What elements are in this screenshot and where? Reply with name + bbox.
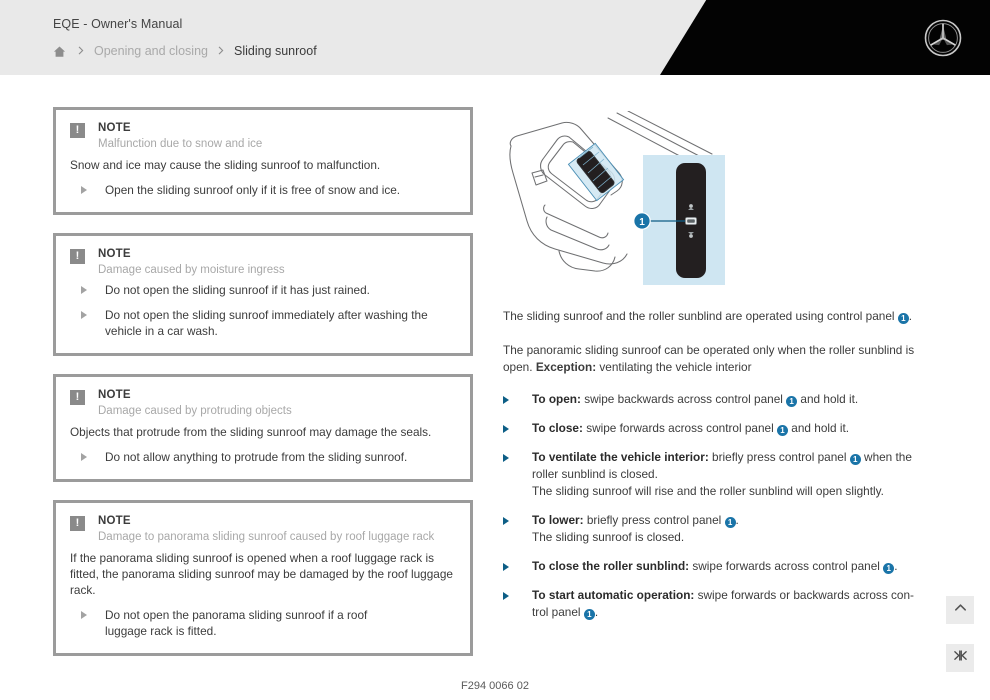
intro-1-text-a: The sliding sunroof and the roller sunbl… (503, 309, 898, 323)
note-bullet-text: Do not open the panorama sliding sunroof… (105, 607, 405, 639)
expand-tool-button[interactable] (946, 644, 974, 672)
note-body: Snow and ice may cause the sliding sunro… (70, 157, 456, 173)
note-bullet-item: Do not open the sliding sunroof if it ha… (70, 282, 456, 298)
control-panel-reference-icon: 1 (777, 425, 788, 436)
operation-text-a: briefly press control panel (709, 450, 850, 464)
note-bullet-list: Do not open the panorama sliding sunroof… (70, 607, 456, 639)
operation-text-b: and hold it. (788, 421, 849, 435)
note-heading-group: NOTE Damage to panorama sliding sunroof … (98, 514, 434, 545)
note-bullet-item: Open the sliding sunroof only if it is f… (70, 182, 456, 198)
operation-text-b: . (894, 559, 897, 573)
triangle-bullet-icon (81, 186, 87, 194)
note-bullet-item: Do not allow anything to protrude from t… (70, 449, 456, 465)
breadcrumb-item-current[interactable]: Sliding sunroof (234, 44, 317, 58)
operation-item: To open: swipe backwards across control … (503, 391, 928, 408)
header-text-group: EQE - Owner's Manual Opening and closing… (53, 16, 317, 59)
intro-paragraph-1: The sliding sunroof and the roller sunbl… (503, 308, 928, 325)
intro-1-text-b: . (909, 309, 912, 323)
manual-title: EQE - Owner's Manual (53, 16, 317, 32)
operation-item: To ventilate the vehicle interior: brief… (503, 449, 928, 500)
note-bullet-item: Do not open the panorama sliding sunroof… (70, 607, 456, 639)
page-header: EQE - Owner's Manual Opening and closing… (0, 0, 990, 75)
triangle-bullet-icon (81, 311, 87, 319)
document-page: ! NOTE Malfunction due to snow and ice S… (0, 75, 990, 700)
note-bullet-text: Open the sliding sunroof only if it is f… (105, 182, 400, 198)
overhead-console-control-panel-illustration: 1 (507, 111, 725, 291)
operation-text-a: swipe forwards across control panel (689, 559, 883, 573)
operation-label: To open: (532, 392, 581, 406)
note-box: ! NOTE Malfunction due to snow and ice S… (53, 107, 473, 215)
note-header: ! NOTE Malfunction due to snow and ice (70, 121, 456, 152)
triangle-bullet-icon (503, 396, 509, 404)
scroll-to-top-button[interactable] (946, 596, 974, 624)
two-column-layout: ! NOTE Malfunction due to snow and ice S… (0, 107, 990, 674)
note-label: NOTE (98, 388, 292, 402)
note-subtitle: Damage caused by protruding objects (98, 403, 292, 419)
left-column: ! NOTE Malfunction due to snow and ice S… (53, 107, 473, 674)
operation-text-a: swipe forwards across control panel (583, 421, 777, 435)
warning-exclamation-icon: ! (70, 249, 85, 264)
triangle-bullet-icon (503, 592, 509, 600)
note-box: ! NOTE Damage caused by moisture ingress… (53, 233, 473, 356)
figure-code: F294 0066 02 (0, 680, 990, 692)
intro-2-text-b: ventilating the vehicle interior (596, 360, 751, 374)
operation-subtext: The sliding sunroof is closed. (532, 529, 928, 546)
operation-text-b: . (595, 605, 598, 619)
operation-text-a: swipe backwards across control panel (581, 392, 786, 406)
warning-exclamation-icon: ! (70, 123, 85, 138)
note-heading-group: NOTE Malfunction due to snow and ice (98, 121, 262, 152)
note-body: Objects that protrude from the sliding s… (70, 424, 456, 440)
note-heading-group: NOTE Damage caused by moisture ingress (98, 247, 285, 278)
triangle-bullet-icon (503, 454, 509, 462)
control-panel-reference-icon: 1 (898, 313, 909, 324)
expand-icon (953, 648, 968, 668)
note-label: NOTE (98, 121, 262, 135)
operation-item: To close the roller sunblind: swipe forw… (503, 558, 928, 575)
warning-exclamation-icon: ! (70, 390, 85, 405)
operation-text-b: and hold it. (797, 392, 858, 406)
note-box: ! NOTE Damage caused by protruding objec… (53, 374, 473, 482)
operation-label: To close the roller sunblind: (532, 559, 689, 573)
operation-label: To lower: (532, 513, 584, 527)
triangle-bullet-icon (81, 453, 87, 461)
control-panel-reference-icon: 1 (850, 454, 861, 465)
note-header: ! NOTE Damage caused by moisture ingress (70, 247, 456, 278)
figure-callout-number: 1 (639, 217, 645, 228)
note-bullet-text: Do not open the sliding sunroof if it ha… (105, 282, 370, 298)
operation-text-a: briefly press control panel (584, 513, 725, 527)
operation-text-b: . (736, 513, 739, 527)
operations-list: To open: swipe backwards across control … (503, 391, 928, 621)
note-header: ! NOTE Damage caused by protruding objec… (70, 388, 456, 419)
operation-item: To start automatic operation: swipe forw… (503, 587, 928, 621)
note-bullet-list: Do not open the sliding sunroof if it ha… (70, 282, 456, 339)
note-header: ! NOTE Damage to panorama sliding sunroo… (70, 514, 456, 545)
operation-text: To close: swipe forwards across control … (532, 420, 928, 437)
operation-item: To lower: briefly press control panel 1.… (503, 512, 928, 546)
control-panel-reference-icon: 1 (883, 563, 894, 574)
operation-text: To close the roller sunblind: swipe forw… (532, 558, 928, 575)
note-bullet-text: Do not allow anything to protrude from t… (105, 449, 407, 465)
note-label: NOTE (98, 514, 434, 528)
right-column: 1 The sliding sunroof and the roller sun… (503, 107, 928, 674)
note-bullet-list: Open the sliding sunroof only if it is f… (70, 182, 456, 198)
operation-label: To close: (532, 421, 583, 435)
breadcrumb: Opening and closing Sliding sunroof (53, 43, 317, 59)
warning-exclamation-icon: ! (70, 516, 85, 531)
operation-label: To start automatic operation: (532, 588, 694, 602)
note-subtitle: Damage to panorama sliding sunroof cause… (98, 529, 434, 545)
triangle-bullet-icon (81, 286, 87, 294)
operation-item: To close: swipe forwards across control … (503, 420, 928, 437)
control-panel-reference-icon: 1 (725, 517, 736, 528)
mercedes-benz-star-logo (923, 18, 963, 58)
operation-text: To start automatic operation: swipe forw… (532, 587, 928, 621)
operation-subtext: The sliding sunroof will rise and the ro… (532, 483, 928, 500)
note-bullet-item: Do not open the sliding sunroof immediat… (70, 307, 456, 339)
note-body: If the panorama sliding sunroof is opene… (70, 550, 456, 598)
control-panel-reference-icon: 1 (786, 396, 797, 407)
triangle-bullet-icon (503, 563, 509, 571)
note-label: NOTE (98, 247, 285, 261)
home-icon[interactable] (53, 45, 66, 58)
chevron-up-icon (953, 600, 968, 620)
breadcrumb-separator-1 (77, 45, 85, 58)
triangle-bullet-icon (81, 611, 87, 619)
triangle-bullet-icon (503, 425, 509, 433)
operation-label: To ventilate the vehicle interior: (532, 450, 709, 464)
note-heading-group: NOTE Damage caused by protruding objects (98, 388, 292, 419)
intro-paragraph-2: The panoramic sliding sunroof can be ope… (503, 342, 928, 376)
note-bullet-text: Do not open the sliding sunroof immediat… (105, 307, 456, 339)
control-panel-reference-icon: 1 (584, 609, 595, 620)
operation-text: To open: swipe backwards across control … (532, 391, 928, 408)
note-subtitle: Malfunction due to snow and ice (98, 136, 262, 152)
note-subtitle: Damage caused by moisture ingress (98, 262, 285, 278)
note-bullet-list: Do not allow anything to protrude from t… (70, 449, 456, 465)
note-box: ! NOTE Damage to panorama sliding sunroo… (53, 500, 473, 656)
breadcrumb-separator-2 (217, 45, 225, 58)
operation-text: To ventilate the vehicle interior: brief… (532, 449, 928, 500)
exception-label: Exception: (536, 360, 596, 374)
operation-text: To lower: briefly press control panel 1.… (532, 512, 928, 546)
triangle-bullet-icon (503, 517, 509, 525)
breadcrumb-item-parent[interactable]: Opening and closing (94, 44, 208, 58)
